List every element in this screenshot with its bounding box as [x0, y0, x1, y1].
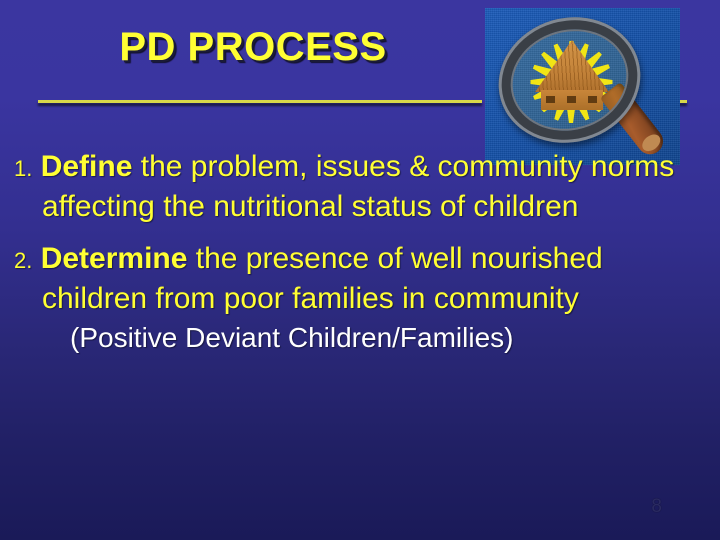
list-item-text: the problem, issues & community norms af… — [42, 150, 674, 223]
page-number: 8 — [651, 496, 662, 518]
list-item-keyword: Determine — [41, 242, 188, 275]
page-title: PD PROCESS — [38, 24, 468, 70]
list-item-number: 1. — [14, 156, 32, 181]
list-item-number: 2. — [14, 248, 32, 273]
list-item-subnote: (Positive Deviant Children/Families) — [42, 320, 690, 356]
slide: PD PROCESS — [0, 0, 720, 540]
title-divider-rule — [38, 100, 482, 103]
content-list: 1. Define the problem, issues & communit… — [14, 148, 690, 370]
list-item-keyword: Define — [41, 150, 133, 183]
magnifying-glass-hut-image — [485, 8, 680, 165]
list-item: 2. Determine the presence of well nouris… — [14, 240, 690, 356]
list-item: 1. Define the problem, issues & communit… — [14, 148, 690, 226]
